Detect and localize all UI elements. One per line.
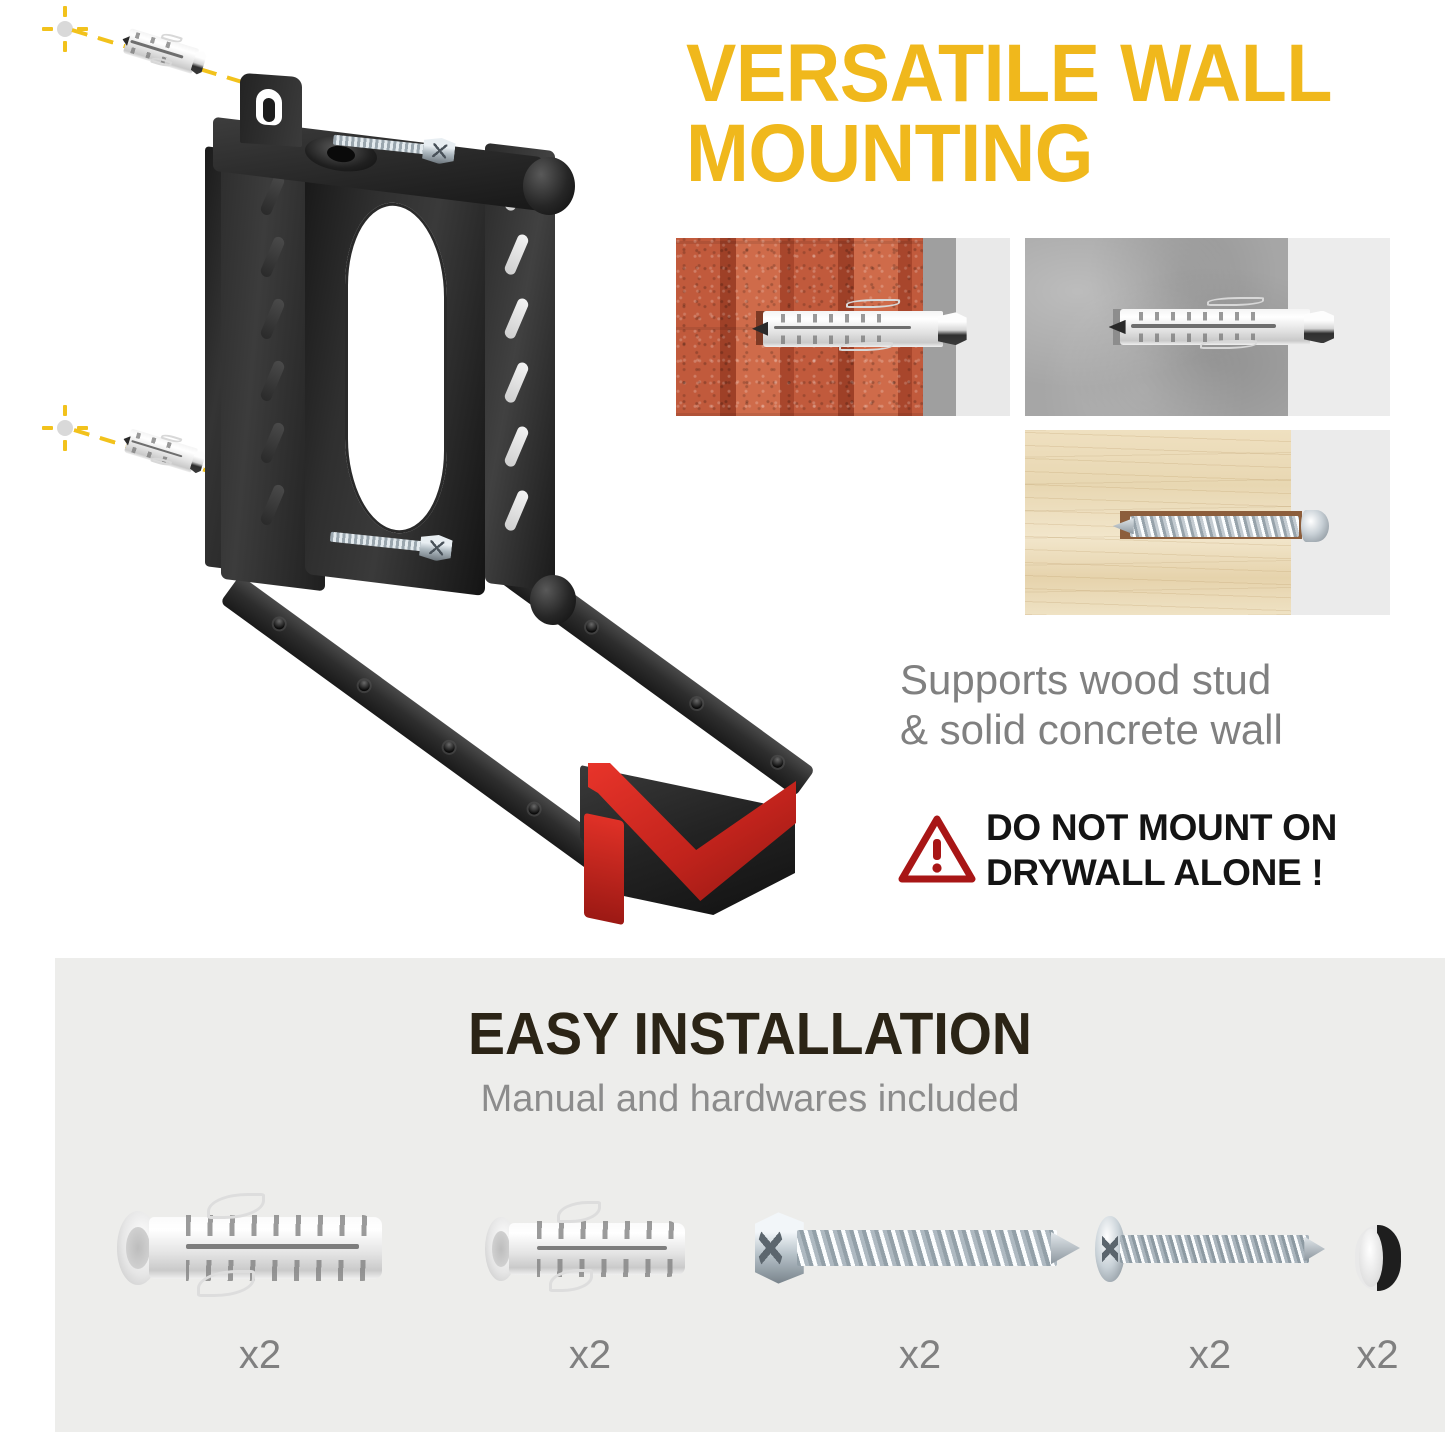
keyhole-slot	[256, 88, 282, 126]
hardware-item-large-anchor: x2	[95, 1173, 425, 1423]
screw-head	[1301, 510, 1329, 543]
marker-ray-west	[42, 426, 53, 430]
anchor-ribs	[781, 314, 893, 344]
marker-ray-south	[63, 41, 67, 52]
bolt-shaft	[330, 531, 423, 551]
supports-line-1: Supports wood stud	[900, 655, 1440, 705]
screw-point	[1113, 518, 1134, 534]
adjust-slot	[259, 359, 286, 403]
anchor-wing-upper	[557, 1201, 601, 1223]
small-wall-anchor-icon	[425, 1173, 755, 1333]
cap-art	[1355, 1225, 1401, 1291]
expansion-anchor	[763, 311, 943, 347]
adjust-slot	[503, 360, 530, 404]
wall-mount-bracket	[185, 75, 885, 935]
marker-ray-north	[63, 405, 67, 416]
marker-core	[57, 420, 73, 436]
adjust-slot	[503, 232, 530, 276]
install-subtitle: Manual and hardwares included	[55, 1078, 1445, 1121]
warning-line-2: DRYWALL ALONE !	[986, 850, 1445, 895]
anchor-ribs	[186, 1215, 372, 1281]
screw-shaft	[1130, 516, 1299, 537]
pivot-knob-bottom	[530, 575, 576, 625]
hardware-item-pan-screw: x2	[1075, 1173, 1345, 1423]
hardware-qty: x2	[95, 1333, 425, 1378]
bolt-shaft	[333, 134, 426, 154]
adjust-slot	[259, 235, 286, 279]
arm-hole	[357, 678, 372, 693]
pan-screw-art	[1095, 1227, 1325, 1271]
supports-description: Supports wood stud & solid concrete wall	[900, 655, 1440, 756]
arm-hole	[526, 801, 541, 816]
install-title: EASY INSTALLATION	[97, 1000, 1404, 1068]
adjust-slot	[259, 173, 286, 217]
bolt-head	[422, 136, 456, 165]
warning-line-1: DO NOT MOUNT ON	[986, 805, 1445, 850]
adjust-slot	[503, 424, 530, 468]
lag-screw-art	[755, 1221, 1080, 1275]
adjust-slot	[503, 296, 530, 340]
marker-ray-north	[63, 6, 67, 17]
arm-hole	[770, 755, 785, 770]
adjust-slot	[259, 421, 286, 465]
fly-anchor-top	[123, 28, 199, 74]
anchor-art	[117, 1215, 382, 1281]
cap-body	[1355, 1225, 1401, 1291]
adjust-slot	[259, 483, 286, 527]
easy-installation-panel: EASY INSTALLATION Manual and hardwares i…	[55, 958, 1445, 1432]
arm-hole	[689, 696, 704, 711]
hardware-item-small-anchor: x2	[425, 1173, 755, 1423]
drill-point-marker-bottom	[42, 405, 88, 451]
supports-line-2: & solid concrete wall	[900, 705, 1440, 755]
hex-head-lag-screw-icon	[755, 1173, 1085, 1333]
brick-wall-sample	[676, 238, 1010, 416]
hardware-qty: x2	[1310, 1333, 1445, 1378]
anchor-art	[485, 1221, 685, 1277]
hardware-list: x2 x2	[55, 1173, 1445, 1423]
marker-core	[57, 21, 73, 37]
black-cap-washer-icon	[1310, 1173, 1445, 1333]
screw-shaft	[1120, 1235, 1309, 1263]
expansion-anchor	[1120, 309, 1310, 345]
anchor-hex-head	[1304, 311, 1334, 344]
hook-red-lip	[584, 813, 624, 926]
pan-head-screw-icon	[1075, 1173, 1345, 1333]
wood-screw	[1113, 508, 1325, 545]
bolt-head	[419, 533, 453, 562]
anchor-ribs	[1139, 312, 1257, 342]
warning-triangle-icon	[898, 813, 976, 885]
hardware-item-cap: x2	[1310, 1173, 1445, 1423]
arm-hole	[584, 619, 599, 634]
hardware-qty: x2	[1075, 1333, 1345, 1378]
large-wall-anchor-icon	[95, 1173, 425, 1333]
anchor-hex-head	[938, 312, 967, 345]
top-section: VERSATILE WALL MOUNTING	[0, 0, 1445, 958]
marker-ray-south	[63, 440, 67, 451]
warning-text: DO NOT MOUNT ON DRYWALL ALONE !	[986, 805, 1445, 895]
marker-ray-west	[42, 27, 53, 31]
adjust-slot	[259, 297, 286, 341]
wood-wall-sample	[1025, 430, 1390, 615]
drill-point-marker-top	[42, 6, 88, 52]
adjust-slot	[503, 488, 530, 532]
hardware-item-lag-screw: x2	[755, 1173, 1085, 1423]
arm-hole	[272, 616, 287, 631]
screw-shaft	[797, 1230, 1057, 1267]
hardware-qty: x2	[425, 1333, 755, 1378]
arm-hole	[441, 740, 456, 755]
pivot-knob-top	[523, 157, 575, 215]
anchor-ribs	[537, 1221, 677, 1277]
hardware-qty: x2	[755, 1333, 1085, 1378]
bracket-window-cutout	[345, 197, 447, 540]
concrete-wall-sample	[1025, 238, 1390, 416]
